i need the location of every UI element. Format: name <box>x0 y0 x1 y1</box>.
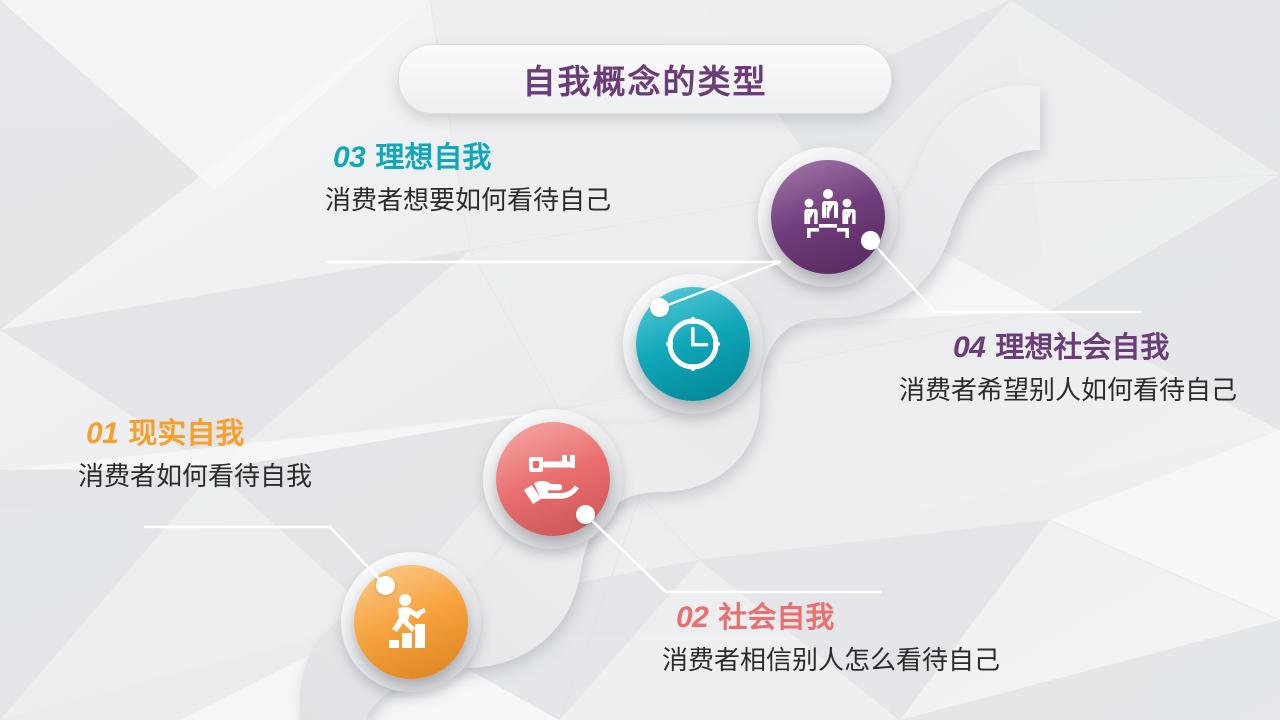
item-desc-04: 消费者希望别人如何看待自己 <box>899 370 1237 407</box>
item-number-01: 01 <box>86 417 118 451</box>
item-number-04: 04 <box>953 331 985 365</box>
node-circle-04[interactable] <box>771 160 885 274</box>
item-name-02: 社会自我 <box>718 594 834 636</box>
item-name-01: 现实自我 <box>128 410 244 452</box>
slide-canvas: 自我概念的类型 <box>0 0 1280 720</box>
item-heading-02: 02 社会自我 <box>676 594 1000 636</box>
item-label-04: 04 理想社会自我 消费者希望别人如何看待自己 <box>953 324 1237 407</box>
item-heading-04: 04 理想社会自我 <box>953 324 1237 366</box>
item-label-02: 02 社会自我 消费者相信别人怎么看待自己 <box>676 594 1000 677</box>
node-circle-01[interactable] <box>354 565 468 679</box>
item-name-03: 理想自我 <box>375 134 491 176</box>
item-desc-01: 消费者如何看待自我 <box>78 456 312 493</box>
item-name-04: 理想社会自我 <box>995 324 1169 366</box>
node-dot-02 <box>576 505 595 524</box>
node-dot-04 <box>861 231 880 250</box>
node-dot-03 <box>650 298 669 317</box>
podium-people-icon <box>797 188 859 246</box>
item-label-01: 01 现实自我 消费者如何看待自我 <box>78 410 312 493</box>
clock-icon <box>662 313 724 375</box>
growth-chart-icon <box>380 592 442 652</box>
hand-holding-key-icon <box>521 450 585 508</box>
node-dot-01 <box>376 576 395 595</box>
item-heading-03: 03 理想自我 <box>333 134 611 176</box>
item-heading-01: 01 现实自我 <box>86 410 312 452</box>
item-number-03: 03 <box>333 141 365 175</box>
item-desc-02: 消费者相信别人怎么看待自己 <box>662 640 1000 677</box>
item-label-03: 03 理想自我 消费者想要如何看待自己 <box>325 134 611 217</box>
slide-title-pill: 自我概念的类型 <box>398 44 892 114</box>
page-title: 自我概念的类型 <box>523 55 768 103</box>
item-desc-03: 消费者想要如何看待自己 <box>325 180 611 217</box>
item-number-02: 02 <box>676 601 708 635</box>
